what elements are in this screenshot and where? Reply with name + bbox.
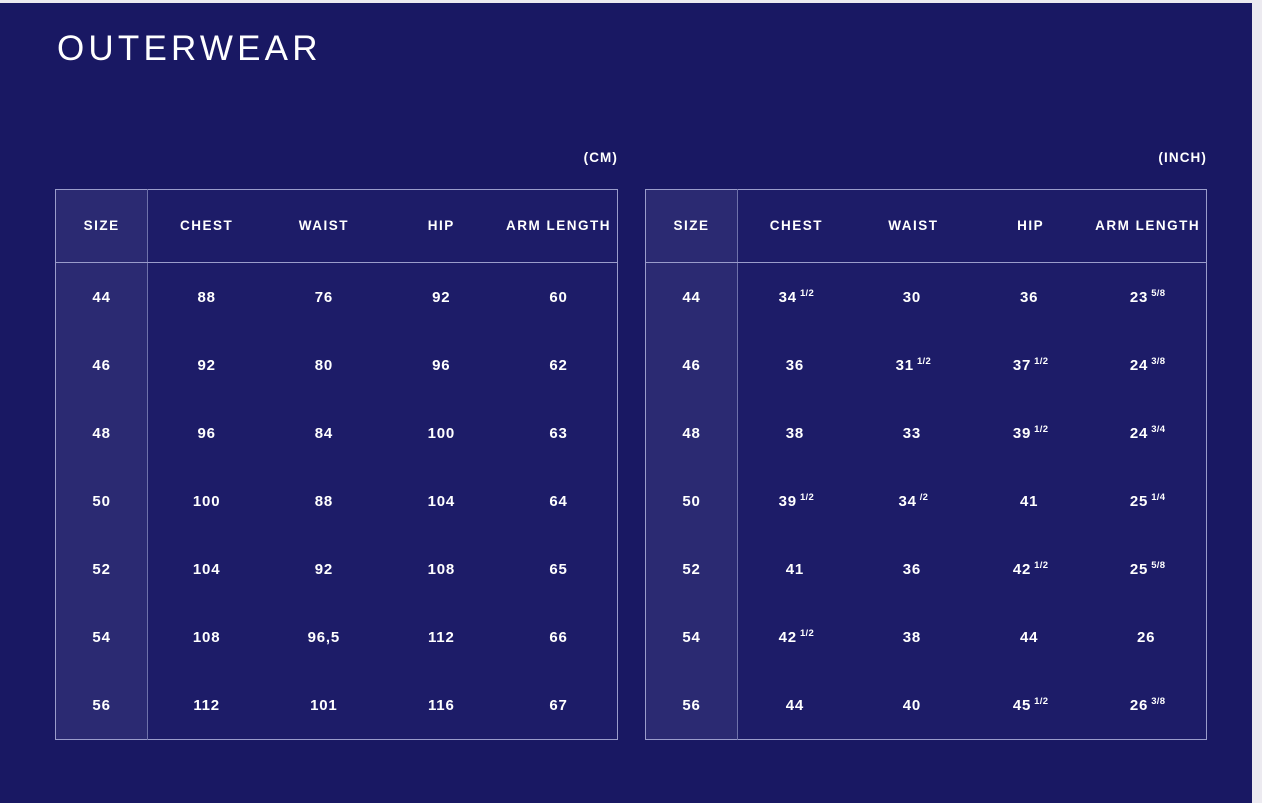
- fraction: 1/4: [1151, 492, 1165, 503]
- cell-arm-length: 251/4: [1089, 467, 1206, 535]
- cell-arm-length: 243/4: [1089, 399, 1206, 467]
- cell-value: 25: [1130, 493, 1148, 510]
- cell-value: 24: [1130, 425, 1148, 442]
- cell-value: 37: [1013, 357, 1031, 374]
- cell-size: 46: [646, 331, 738, 399]
- cell-hip: 391/2: [972, 399, 1089, 467]
- cell-chest: 36: [738, 331, 855, 399]
- table-row: 56 44 40 451/2 263/8: [646, 671, 1207, 740]
- table-row: 54 421/2 38 44 26: [646, 603, 1207, 671]
- cell-waist: 96,5: [265, 603, 382, 671]
- cell-value: 23: [1130, 289, 1148, 306]
- cell-size: 48: [56, 399, 148, 467]
- cell-waist: 38: [855, 603, 972, 671]
- table-row: 52 41 36 421/2 255/8: [646, 535, 1207, 603]
- cell-value: 33: [903, 425, 921, 442]
- table-row: 44 341/2 30 36 235/8: [646, 263, 1207, 332]
- fraction: 1/2: [1034, 696, 1048, 707]
- cell-value: 25: [1130, 561, 1148, 578]
- cell-hip: 41: [972, 467, 1089, 535]
- fraction: 3/8: [1151, 696, 1165, 707]
- cell-size: 50: [56, 467, 148, 535]
- column-header-hip: HIP: [383, 190, 500, 263]
- size-table-cm: SIZE CHEST WAIST HIP ARM LENGTH 44 88 76…: [55, 189, 618, 740]
- cell-waist: 36: [855, 535, 972, 603]
- cell-hip: 112: [383, 603, 500, 671]
- table-row: 46 92 80 96 62: [56, 331, 618, 399]
- cell-waist: 76: [265, 263, 382, 332]
- cell-hip: 451/2: [972, 671, 1089, 740]
- fraction: 1/2: [800, 628, 814, 639]
- column-header-waist: WAIST: [265, 190, 382, 263]
- cell-waist: 30: [855, 263, 972, 332]
- column-header-hip: HIP: [972, 190, 1089, 263]
- cell-size: 56: [646, 671, 738, 740]
- cell-size: 46: [56, 331, 148, 399]
- cell-size: 44: [56, 263, 148, 332]
- cell-chest: 92: [148, 331, 265, 399]
- fraction: 1/2: [800, 492, 814, 503]
- table-row: 44 88 76 92 60: [56, 263, 618, 332]
- cell-arm-length: 263/8: [1089, 671, 1206, 740]
- column-header-size: SIZE: [646, 190, 738, 263]
- cell-value: 38: [903, 629, 921, 646]
- cell-value: 44: [1020, 629, 1038, 646]
- table-row: 56 112 101 116 67: [56, 671, 618, 740]
- cell-arm-length: 66: [500, 603, 617, 671]
- table-row: 50 100 88 104 64: [56, 467, 618, 535]
- cell-waist: 311/2: [855, 331, 972, 399]
- fraction: 1/2: [917, 356, 931, 367]
- column-header-chest: CHEST: [148, 190, 265, 263]
- cell-size: 48: [646, 399, 738, 467]
- cell-waist: 40: [855, 671, 972, 740]
- cell-value: 34: [779, 289, 797, 306]
- cell-value: 45: [1013, 697, 1031, 714]
- size-chart-page: OUTERWEAR (CM) SIZE CHEST WAIST HIP ARM …: [0, 3, 1252, 803]
- column-header-arm-length: ARM LENGTH: [1089, 190, 1206, 263]
- cell-arm-length: 62: [500, 331, 617, 399]
- cell-waist: 88: [265, 467, 382, 535]
- cell-chest: 88: [148, 263, 265, 332]
- cell-hip: 421/2: [972, 535, 1089, 603]
- column-header-size: SIZE: [56, 190, 148, 263]
- cell-chest: 341/2: [738, 263, 855, 332]
- column-header-arm-length: ARM LENGTH: [500, 190, 617, 263]
- table-body-inch: 44 341/2 30 36 235/8 46 36 311/2 371/2 2…: [646, 263, 1207, 740]
- fraction: 5/8: [1151, 560, 1165, 571]
- cell-value: 38: [786, 425, 804, 442]
- table-row: 50 391/2 34/2 41 251/4: [646, 467, 1207, 535]
- unit-label-cm: (CM): [55, 147, 618, 169]
- table-row: 46 36 311/2 371/2 243/8: [646, 331, 1207, 399]
- size-table-block-cm: (CM) SIZE CHEST WAIST HIP ARM LENGTH 44 …: [55, 147, 618, 740]
- cell-hip: 44: [972, 603, 1089, 671]
- table-row: 54 108 96,5 112 66: [56, 603, 618, 671]
- cell-hip: 108: [383, 535, 500, 603]
- cell-value: 42: [779, 629, 797, 646]
- cell-chest: 421/2: [738, 603, 855, 671]
- fraction: 3/4: [1151, 424, 1165, 435]
- cell-chest: 108: [148, 603, 265, 671]
- cell-value: 31: [896, 357, 914, 374]
- cell-chest: 391/2: [738, 467, 855, 535]
- cell-arm-length: 67: [500, 671, 617, 740]
- cell-value: 40: [903, 697, 921, 714]
- cell-arm-length: 63: [500, 399, 617, 467]
- cell-chest: 112: [148, 671, 265, 740]
- cell-arm-length: 235/8: [1089, 263, 1206, 332]
- cell-size: 50: [646, 467, 738, 535]
- cell-arm-length: 255/8: [1089, 535, 1206, 603]
- cell-value: 44: [786, 697, 804, 714]
- table-row: 52 104 92 108 65: [56, 535, 618, 603]
- table-body-cm: 44 88 76 92 60 46 92 80 96 62 48 96 84: [56, 263, 618, 740]
- fraction: 5/8: [1151, 288, 1165, 299]
- cell-hip: 100: [383, 399, 500, 467]
- cell-hip: 371/2: [972, 331, 1089, 399]
- page-title: OUTERWEAR: [57, 29, 322, 69]
- cell-value: 36: [903, 561, 921, 578]
- cell-value: 41: [1020, 493, 1038, 510]
- table-row: 48 96 84 100 63: [56, 399, 618, 467]
- cell-chest: 41: [738, 535, 855, 603]
- size-table-block-inch: (INCH) SIZE CHEST WAIST HIP ARM LENGTH 4…: [645, 147, 1207, 740]
- fraction: 1/2: [1034, 356, 1048, 367]
- cell-hip: 104: [383, 467, 500, 535]
- fraction: 3/8: [1151, 356, 1165, 367]
- cell-waist: 101: [265, 671, 382, 740]
- cell-arm-length: 60: [500, 263, 617, 332]
- cell-value: 24: [1130, 357, 1148, 374]
- fraction: 1/2: [1034, 424, 1048, 435]
- fraction: 1/2: [1034, 560, 1048, 571]
- cell-size: 56: [56, 671, 148, 740]
- cell-value: 39: [779, 493, 797, 510]
- table-header-row: SIZE CHEST WAIST HIP ARM LENGTH: [646, 190, 1207, 263]
- cell-chest: 96: [148, 399, 265, 467]
- cell-value: 36: [1020, 289, 1038, 306]
- cell-waist: 92: [265, 535, 382, 603]
- cell-arm-length: 26: [1089, 603, 1206, 671]
- cell-waist: 84: [265, 399, 382, 467]
- cell-value: 42: [1013, 561, 1031, 578]
- cell-hip: 116: [383, 671, 500, 740]
- cell-chest: 104: [148, 535, 265, 603]
- column-header-waist: WAIST: [855, 190, 972, 263]
- cell-arm-length: 243/8: [1089, 331, 1206, 399]
- cell-value: 41: [786, 561, 804, 578]
- table-row: 48 38 33 391/2 243/4: [646, 399, 1207, 467]
- fraction: /2: [920, 492, 929, 503]
- cell-waist: 34/2: [855, 467, 972, 535]
- cell-size: 52: [646, 535, 738, 603]
- fraction: 1/2: [800, 288, 814, 299]
- table-header-row: SIZE CHEST WAIST HIP ARM LENGTH: [56, 190, 618, 263]
- cell-value: 34: [898, 493, 916, 510]
- cell-hip: 36: [972, 263, 1089, 332]
- cell-chest: 100: [148, 467, 265, 535]
- cell-size: 54: [646, 603, 738, 671]
- column-header-chest: CHEST: [738, 190, 855, 263]
- cell-chest: 38: [738, 399, 855, 467]
- cell-hip: 96: [383, 331, 500, 399]
- size-table-inch: SIZE CHEST WAIST HIP ARM LENGTH 44 341/2…: [645, 189, 1207, 740]
- unit-label-inch: (INCH): [645, 147, 1207, 169]
- cell-value: 26: [1137, 629, 1155, 646]
- cell-value: 26: [1130, 697, 1148, 714]
- cell-chest: 44: [738, 671, 855, 740]
- cell-size: 52: [56, 535, 148, 603]
- cell-arm-length: 64: [500, 467, 617, 535]
- cell-waist: 33: [855, 399, 972, 467]
- cell-size: 54: [56, 603, 148, 671]
- cell-hip: 92: [383, 263, 500, 332]
- cell-value: 30: [903, 289, 921, 306]
- cell-size: 44: [646, 263, 738, 332]
- cell-waist: 80: [265, 331, 382, 399]
- cell-arm-length: 65: [500, 535, 617, 603]
- cell-value: 39: [1013, 425, 1031, 442]
- cell-value: 36: [786, 357, 804, 374]
